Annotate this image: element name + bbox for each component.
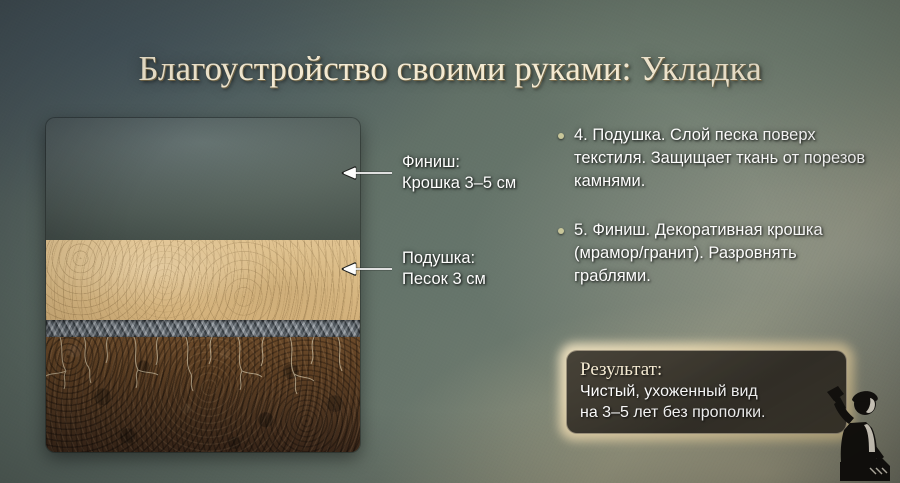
result-box-body: Результат: Чистый, ухоженный вид на 3–5 …: [566, 350, 847, 434]
stonemason-with-hammer-icon: [818, 378, 894, 483]
result-callout-box: Результат: Чистый, ухоженный вид на 3–5 …: [566, 350, 847, 434]
callout-finish: Финиш: Крошка 3–5 см: [340, 152, 516, 194]
callout-cushion-text: Подушка: Песок 3 см: [402, 248, 486, 290]
soil-layer: [46, 337, 360, 452]
arrow-left-icon: [340, 261, 394, 277]
result-text: Чистый, ухоженный вид на 3–5 лет без про…: [580, 381, 833, 423]
callout-cushion-line1: Подушка:: [402, 248, 486, 269]
gravel-chippings-layer: [46, 118, 360, 240]
result-title: Результат:: [580, 359, 833, 381]
geotextile-layer: [46, 320, 360, 337]
layer-cross-section-photo: [46, 118, 360, 452]
bullet-dot-icon: [558, 133, 564, 139]
callout-cushion-line2: Песок 3 см: [402, 269, 486, 290]
page-title: Благоустройство своими руками: Укладка: [0, 49, 900, 89]
callout-finish-line1: Финиш:: [402, 152, 516, 173]
bullet-text: 5. Финиш. Декоративная крошка (мрамор/гр…: [574, 219, 878, 288]
bullet-text: 4. Подушка. Слой песка поверх текстиля. …: [574, 124, 878, 193]
callout-finish-text: Финиш: Крошка 3–5 см: [402, 152, 516, 194]
arrow-left-icon: [340, 165, 394, 181]
sand-layer: [46, 240, 360, 320]
callout-cushion: Подушка: Песок 3 см: [340, 248, 486, 290]
list-item: 4. Подушка. Слой песка поверх текстиля. …: [558, 124, 878, 193]
bullet-dot-icon: [558, 228, 564, 234]
bullet-list: 4. Подушка. Слой песка поверх текстиля. …: [558, 124, 878, 314]
slide-canvas: Благоустройство своими руками: Укладка: [0, 0, 900, 483]
callout-finish-line2: Крошка 3–5 см: [402, 173, 516, 194]
list-item: 5. Финиш. Декоративная крошка (мрамор/гр…: [558, 219, 878, 288]
plant-roots-decoration: [46, 337, 360, 452]
